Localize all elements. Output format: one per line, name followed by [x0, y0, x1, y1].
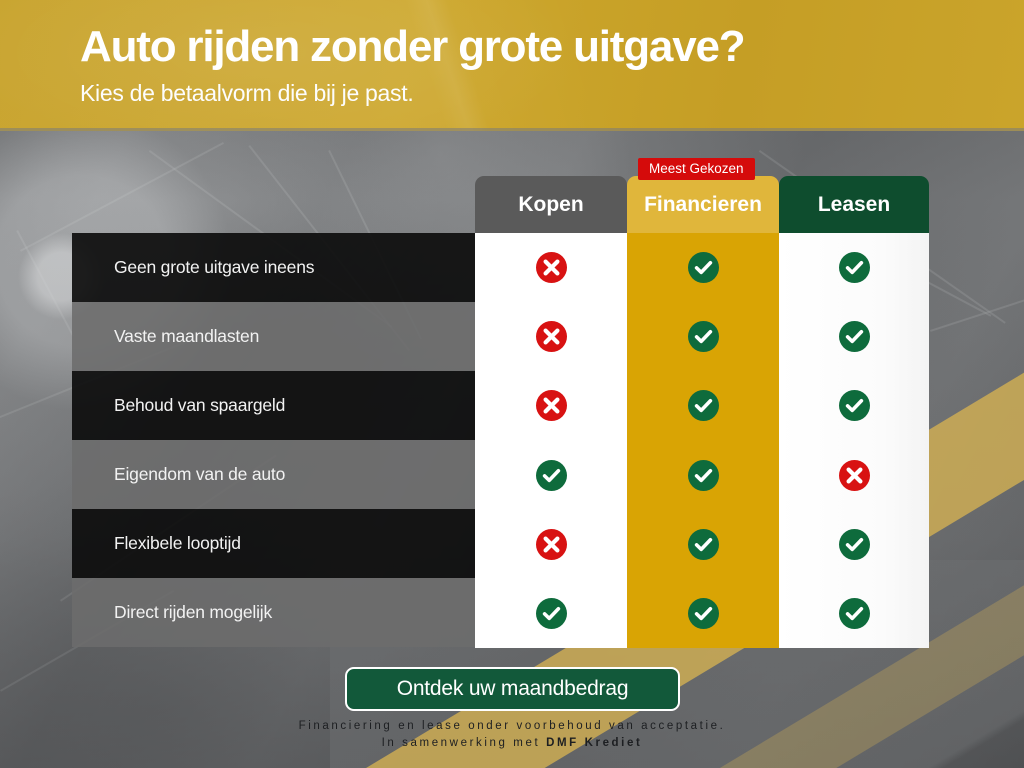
column-body-leasen — [779, 233, 929, 648]
column-body-kopen — [475, 233, 627, 648]
disclaimer-prefix: In samenwerking met — [382, 737, 547, 749]
check-circle-icon — [688, 252, 719, 283]
cell-financieren-4 — [627, 510, 779, 579]
check-circle-icon — [839, 598, 870, 629]
cell-financieren-2 — [627, 371, 779, 440]
feature-label: Flexibele looptijd — [114, 533, 241, 554]
cell-financieren-5 — [627, 579, 779, 648]
cell-leasen-0 — [779, 233, 929, 302]
cell-leasen-1 — [779, 302, 929, 371]
feature-label-column: Geen grote uitgave ineens Vaste maandlas… — [72, 233, 484, 647]
column-header-leasen: Leasen — [779, 176, 929, 233]
check-circle-icon — [688, 321, 719, 352]
check-circle-icon — [688, 529, 719, 560]
column-kopen[interactable]: Kopen — [475, 176, 627, 648]
feature-label: Geen grote uitgave ineens — [114, 257, 314, 278]
cell-leasen-3 — [779, 441, 929, 510]
cell-kopen-0 — [475, 233, 627, 302]
column-header-financieren: Financieren — [627, 176, 779, 233]
table-row: Direct rijden mogelijk — [72, 578, 484, 647]
column-financieren[interactable]: Financieren — [627, 176, 779, 648]
check-circle-icon — [536, 460, 567, 491]
feature-label: Behoud van spaargeld — [114, 395, 285, 416]
cell-kopen-5 — [475, 579, 627, 648]
table-row: Geen grote uitgave ineens — [72, 233, 484, 302]
cross-circle-icon — [536, 390, 567, 421]
partner-name: DMF Krediet — [546, 737, 642, 749]
footer-disclaimer: Financiering en lease onder voorbehoud v… — [0, 718, 1024, 752]
comparison-table: Geen grote uitgave ineens Vaste maandlas… — [0, 0, 1024, 768]
disclaimer-line-1: Financiering en lease onder voorbehoud v… — [0, 718, 1024, 735]
table-row: Flexibele looptijd — [72, 509, 484, 578]
disclaimer-line-2: In samenwerking met DMF Krediet — [0, 735, 1024, 752]
cell-financieren-3 — [627, 441, 779, 510]
cell-leasen-2 — [779, 371, 929, 440]
column-header-kopen: Kopen — [475, 176, 627, 233]
table-row: Eigendom van de auto — [72, 440, 484, 509]
cell-financieren-0 — [627, 233, 779, 302]
cross-circle-icon — [536, 252, 567, 283]
cross-circle-icon — [536, 529, 567, 560]
check-circle-icon — [536, 598, 567, 629]
cross-circle-icon — [839, 460, 870, 491]
column-body-financieren — [627, 233, 779, 648]
check-circle-icon — [688, 460, 719, 491]
check-circle-icon — [688, 598, 719, 629]
cell-leasen-5 — [779, 579, 929, 648]
status-badge: Meest Gekozen — [638, 158, 755, 180]
check-circle-icon — [839, 321, 870, 352]
feature-label: Vaste maandlasten — [114, 326, 259, 347]
cta-label: Ontdek uw maandbedrag — [397, 677, 629, 701]
cell-kopen-4 — [475, 510, 627, 579]
cell-kopen-3 — [475, 441, 627, 510]
discover-monthly-amount-button[interactable]: Ontdek uw maandbedrag — [345, 667, 680, 711]
cell-kopen-2 — [475, 371, 627, 440]
table-row: Behoud van spaargeld — [72, 371, 484, 440]
check-circle-icon — [688, 390, 719, 421]
cell-financieren-1 — [627, 302, 779, 371]
table-row: Vaste maandlasten — [72, 302, 484, 371]
check-circle-icon — [839, 529, 870, 560]
cell-leasen-4 — [779, 510, 929, 579]
cell-kopen-1 — [475, 302, 627, 371]
feature-label: Direct rijden mogelijk — [114, 602, 272, 623]
check-circle-icon — [839, 390, 870, 421]
column-leasen[interactable]: Leasen — [779, 176, 929, 648]
cross-circle-icon — [536, 321, 567, 352]
check-circle-icon — [839, 252, 870, 283]
feature-label: Eigendom van de auto — [114, 464, 285, 485]
